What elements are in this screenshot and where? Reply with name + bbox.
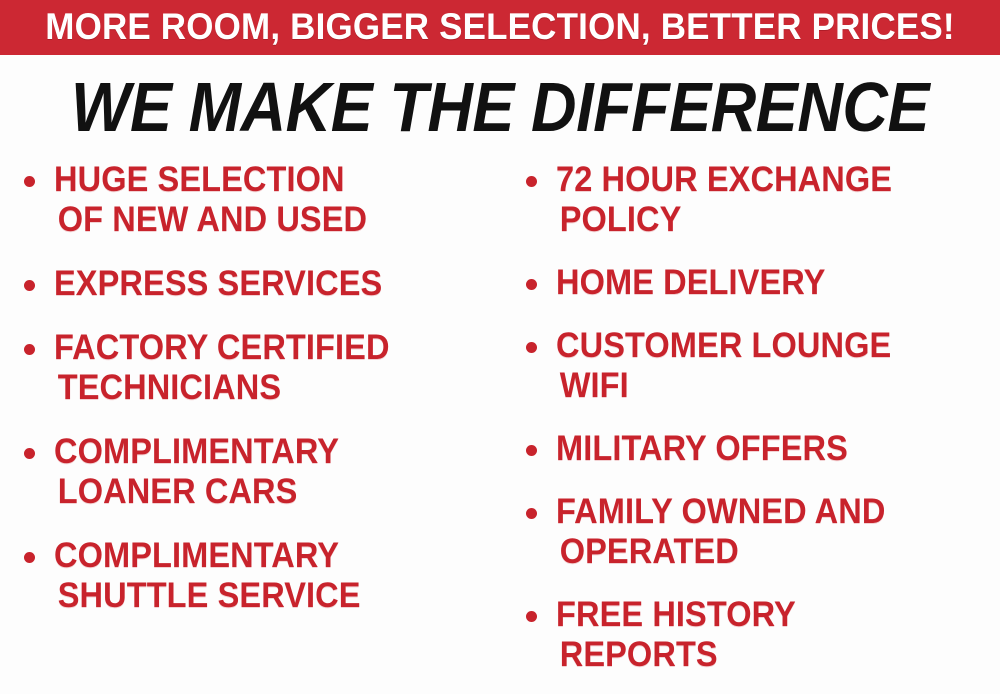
list-item-line: REPORTS [556,635,960,675]
list-item-line: COMPLIMENTARY [54,432,467,472]
bullet-dot-icon [24,280,35,291]
list-item-line: WIFI [556,366,960,406]
list-item: FAMILY OWNED ANDOPERATED [520,492,990,572]
list-item-text: EXPRESS SERVICES [54,264,467,304]
bullet-dot-icon [24,552,35,563]
bullet-dot-icon [24,176,35,187]
bullet-dot-icon [526,445,537,456]
list-item-line: FAMILY OWNED AND [556,492,960,532]
promo-banner-graphic: MORE ROOM, BIGGER SELECTION, BETTER PRIC… [0,0,1000,694]
bullet-dot-icon [526,279,537,290]
list-item-text: COMPLIMENTARYSHUTTLE SERVICE [54,536,467,616]
list-item-text: COMPLIMENTARYLOANER CARS [54,432,467,512]
list-item-text: HOME DELIVERY [556,263,960,303]
list-item: 72 HOUR EXCHANGEPOLICY [520,160,990,240]
list-item: COMPLIMENTARYSHUTTLE SERVICE [18,536,498,616]
list-item: HOME DELIVERY [520,263,990,303]
bullet-dot-icon [526,342,537,353]
list-item: FACTORY CERTIFIEDTECHNICIANS [18,328,498,408]
list-item-line: CUSTOMER LOUNGE [556,326,960,366]
list-item-line: OPERATED [556,532,960,572]
list-item-line: LOANER CARS [54,472,467,512]
list-item-text: 72 HOUR EXCHANGEPOLICY [556,160,960,240]
list-item-line: OF NEW AND USED [54,200,467,240]
list-item-line: HUGE SELECTION [54,160,467,200]
bullet-dot-icon [526,176,537,187]
list-item: MILITARY OFFERS [520,429,990,469]
bullet-dot-icon [24,448,35,459]
list-item: CUSTOMER LOUNGEWIFI [520,326,990,406]
banner-headline-text: MORE ROOM, BIGGER SELECTION, BETTER PRIC… [28,0,973,55]
list-item-line: FACTORY CERTIFIED [54,328,467,368]
list-item-line: SHUTTLE SERVICE [54,576,467,616]
list-item: COMPLIMENTARYLOANER CARS [18,432,498,512]
bullet-dot-icon [526,611,537,622]
list-item-line: TECHNICIANS [54,368,467,408]
list-item-line: 72 HOUR EXCHANGE [556,160,960,200]
list-item-text: FREE HISTORYREPORTS [556,595,960,675]
benefits-column-right: 72 HOUR EXCHANGEPOLICYHOME DELIVERYCUSTO… [520,160,990,694]
list-item: HUGE SELECTIONOF NEW AND USED [18,160,498,240]
list-item-line: HOME DELIVERY [556,263,960,303]
list-item-text: FAMILY OWNED ANDOPERATED [556,492,960,572]
list-item-text: HUGE SELECTIONOF NEW AND USED [54,160,467,240]
list-item-line: EXPRESS SERVICES [54,264,467,304]
page-title: WE MAKE THE DIFFERENCE [50,72,950,142]
benefits-column-left: HUGE SELECTIONOF NEW AND USEDEXPRESS SER… [18,160,498,640]
list-item-line: FREE HISTORY [556,595,960,635]
top-red-banner: MORE ROOM, BIGGER SELECTION, BETTER PRIC… [0,0,1000,55]
list-item-text: FACTORY CERTIFIEDTECHNICIANS [54,328,467,408]
bullet-dot-icon [24,344,35,355]
list-item-text: CUSTOMER LOUNGEWIFI [556,326,960,406]
list-item-line: POLICY [556,200,960,240]
bullet-dot-icon [526,508,537,519]
list-item-text: MILITARY OFFERS [556,429,960,469]
list-item-line: MILITARY OFFERS [556,429,960,469]
list-item: EXPRESS SERVICES [18,264,498,304]
list-item-line: COMPLIMENTARY [54,536,467,576]
list-item: FREE HISTORYREPORTS [520,595,990,675]
